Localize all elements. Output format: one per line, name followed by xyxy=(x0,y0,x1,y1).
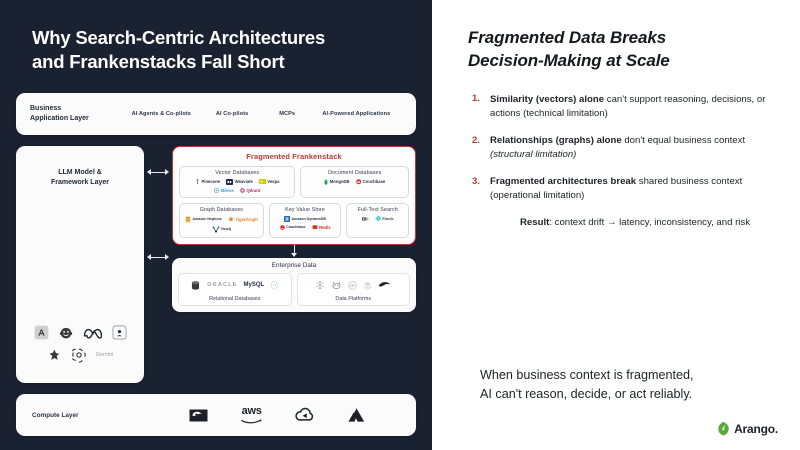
mysql-label: MySQL xyxy=(244,282,265,288)
left-dark-panel: Why Search-Centric Architectures and Fra… xyxy=(0,0,432,450)
group-logos: ORACLE MySQL xyxy=(190,278,279,293)
group-title: Graph Databases xyxy=(200,207,243,213)
enterprise-data-title: Enterprise Data xyxy=(178,262,410,269)
right-panel-title: Fragmented Data Breaks Decision-Making a… xyxy=(454,26,778,73)
qdrant-logo: Qdrant xyxy=(240,188,260,193)
teradata-logo xyxy=(378,281,391,289)
right-title-line1: Fragmented Data Breaks xyxy=(468,28,666,47)
postgresql-logo xyxy=(270,281,279,290)
frankenstack-row-2: Graph Databases Amazon Neptune TigerGrap… xyxy=(179,203,409,238)
business-application-layer-label: Business Application Layer xyxy=(30,104,122,123)
tigergraph-logo: TigerGraph xyxy=(228,216,258,222)
page-title-line1: Why Search-Centric Architectures xyxy=(32,27,325,48)
arango-brand-text: Arango. xyxy=(734,422,778,436)
list-item: 1. Similarity (vectors) alone can't supp… xyxy=(472,93,778,120)
couchbase-kv-logo: Couchbase xyxy=(280,225,306,230)
point-text: Similarity (vectors) alone can't support… xyxy=(490,93,778,120)
sqlserver-logo xyxy=(190,280,201,291)
aws-label: aws xyxy=(242,406,262,417)
bal-label-line2: Application Layer xyxy=(30,114,122,123)
logo-label: Redis xyxy=(319,225,330,230)
mysql-logo: MySQL xyxy=(244,282,265,288)
slide: Why Search-Centric Architectures and Fra… xyxy=(0,0,800,450)
arrow-shaft xyxy=(294,245,295,253)
neo4j-logo: Neo4j xyxy=(212,226,231,233)
openai-icon xyxy=(71,347,87,363)
frankenstack-row-1: Vector Databases Pinecone Weaviate xyxy=(179,166,409,198)
group-graph-databases: Graph Databases Amazon Neptune TigerGrap… xyxy=(179,203,264,238)
gemini-label: Gemini xyxy=(96,352,113,358)
point-bold-lead: Fragmented architectures break xyxy=(490,176,636,187)
logo-label: Weaviate xyxy=(235,179,253,184)
arango-mark-icon xyxy=(717,421,730,436)
page-title-line2: and Frankenstacks Fall Short xyxy=(32,50,416,74)
list-item: 3. Fragmented architectures break shared… xyxy=(472,175,778,202)
solr-logo: So xyxy=(362,216,370,222)
group-data-platforms: Data Platforms xyxy=(297,273,411,306)
arrow-frankenstack-to-enterprise xyxy=(172,245,416,258)
point-text: Fragmented architectures break shared bu… xyxy=(490,175,778,202)
point-number: 2. xyxy=(472,134,483,161)
snowflake-logo xyxy=(315,280,325,290)
clickhouse-logo xyxy=(348,281,357,290)
architecture-diagram: Business Application Layer AI Agents & C… xyxy=(16,93,416,436)
business-application-items: AI Agents & Co-pilots AI Co-pilots MCPs … xyxy=(122,111,402,117)
group-logos: Amazon Neptune TigerGraph Neo4j xyxy=(184,216,259,233)
milvus-logo: Milvus xyxy=(214,188,234,193)
point-number: 1. xyxy=(472,93,483,120)
bal-label-line1: Business xyxy=(30,104,122,113)
couchbase-logo: Couchbase xyxy=(356,179,386,185)
frankenstack-title: Fragmented Frankenstack xyxy=(179,152,409,161)
bal-item-mcps: MCPs xyxy=(264,111,311,117)
result-text: : context drift → latency, inconsistency… xyxy=(549,217,750,228)
llm-logo-row: Gemini xyxy=(24,325,136,373)
logo-label: Neo4j xyxy=(221,227,231,231)
llm-framework-layer-label: LLM Model & Framework Layer xyxy=(24,168,136,188)
gemini-icon: Gemini xyxy=(96,352,113,358)
llm-label-line1: LLM Model & xyxy=(24,168,136,178)
right-content-panel: Fragmented Data Breaks Decision-Making a… xyxy=(432,0,800,450)
closing-statement: When business context is fragmented, AI … xyxy=(454,366,778,404)
compute-layer: Compute Layer aws xyxy=(16,394,416,436)
weaviate-logo: Weaviate xyxy=(226,179,253,185)
bal-item-ai-agents: AI Agents & Co-pilots xyxy=(122,111,201,117)
group-title: Vector Databases xyxy=(215,170,259,176)
point-bold-lead: Similarity (vectors) alone xyxy=(490,94,604,105)
svg-text:So: So xyxy=(362,218,366,221)
group-title: Data Platforms xyxy=(335,296,371,302)
mongodb-logo: MongoDB xyxy=(324,179,349,185)
logo-label: Qdrant xyxy=(246,188,260,193)
arrow-inner xyxy=(291,245,297,257)
llm-label-line2: Framework Layer xyxy=(24,178,136,188)
logo-label: Couchbase xyxy=(286,225,305,229)
compute-layer-label: Compute Layer xyxy=(32,412,172,419)
azure-icon xyxy=(347,407,366,423)
numbered-points-list: 1. Similarity (vectors) alone can't supp… xyxy=(454,93,778,228)
connector-arrows xyxy=(144,146,172,383)
arrow-head-right-icon xyxy=(165,169,169,175)
right-title-line2: Decision-Making at Scale xyxy=(468,49,778,72)
mistral-icon xyxy=(112,325,127,340)
arrow-shaft xyxy=(151,172,165,173)
databricks-logo xyxy=(363,281,372,290)
business-application-layer: Business Application Layer AI Agents & C… xyxy=(16,93,416,135)
arrow-head-down-icon xyxy=(291,253,297,257)
group-logos: Pinecone Weaviate Vespa xyxy=(184,179,290,193)
fragmented-frankenstack-box: Fragmented Frankenstack Vector Databases… xyxy=(172,146,416,245)
enterprise-groups: ORACLE MySQL Relational Databas xyxy=(178,273,410,306)
diagram-right-column: Fragmented Frankenstack Vector Databases… xyxy=(172,146,416,383)
point-bold-lead: Relationships (graphs) alone xyxy=(490,135,622,146)
closing-line1: When business context is fragmented, xyxy=(480,368,694,382)
logo-label: Elastic xyxy=(382,217,394,221)
bal-item-ai-copilots: AI Co-pilots xyxy=(201,111,264,117)
logo-label: Amazon Neptune xyxy=(192,217,221,221)
huggingface-icon xyxy=(58,325,74,340)
elastic-logo: Elastic xyxy=(376,216,394,221)
neptune-logo: Amazon Neptune xyxy=(185,216,222,223)
group-document-databases: Document Databases MongoDB Couchbase xyxy=(300,166,409,198)
point-rest: don't equal business context xyxy=(622,135,745,146)
result-line: Result: context drift → latency, inconsi… xyxy=(472,217,778,228)
enterprise-data-box: Enterprise Data ORACLE xyxy=(172,258,416,312)
compute-logo-row: aws xyxy=(172,406,400,424)
redis-logo: Redis xyxy=(312,225,331,230)
hadoop-logo xyxy=(331,280,342,290)
logo-label: Vespa xyxy=(267,179,279,184)
arrow-llm-to-frankenstack xyxy=(147,168,169,177)
group-title: Document Databases xyxy=(328,170,381,176)
llm-framework-layer: LLM Model & Framework Layer xyxy=(16,146,144,383)
anthropic-icon xyxy=(34,325,49,340)
closing-line2: AI can't reason, decide, or act reliably… xyxy=(480,385,778,404)
group-title: Key Value Store xyxy=(285,207,325,213)
nvidia-icon xyxy=(188,408,209,423)
arrow-shaft xyxy=(151,257,165,258)
logo-label: MongoDB xyxy=(330,179,350,184)
list-item: 2. Relationships (graphs) alone don't eq… xyxy=(472,134,778,161)
arango-brand-logo: Arango. xyxy=(717,421,778,436)
logo-label: Couchbase xyxy=(363,179,386,184)
group-logos: Amazon DynamoDB Couchbase Redis xyxy=(274,216,337,230)
group-full-text-search: Full-Text Search So Elastic xyxy=(346,203,409,238)
aws-icon: aws xyxy=(241,406,263,424)
logo-label: Amazon DynamoDB xyxy=(292,217,326,221)
diagram-middle-region: LLM Model & Framework Layer xyxy=(16,146,416,383)
group-logos: MongoDB Couchbase xyxy=(324,179,385,185)
page-title: Why Search-Centric Architectures and Fra… xyxy=(16,22,416,75)
meta-icon xyxy=(83,327,103,339)
point-italic-tail: (structural limitation) xyxy=(490,149,576,160)
oracle-label: ORACLE xyxy=(207,282,237,288)
logo-label: Milvus xyxy=(221,188,234,193)
group-key-value-store: Key Value Store Amazon DynamoDB Couchbas… xyxy=(269,203,342,238)
bal-item-ai-powered-apps: AI-Powered Applications xyxy=(311,111,402,117)
group-logos xyxy=(315,278,391,293)
group-title: Relational Databases xyxy=(209,296,260,302)
google-cloud-icon xyxy=(294,407,315,423)
group-title: Full-Text Search xyxy=(358,207,398,213)
group-relational-databases: ORACLE MySQL Relational Databas xyxy=(178,273,292,306)
vespa-logo: Vespa xyxy=(259,179,280,184)
dynamodb-logo: Amazon DynamoDB xyxy=(284,216,326,222)
arrow-llm-to-enterprise xyxy=(147,253,169,262)
arrow-head-right-icon xyxy=(165,254,169,260)
point-text: Relationships (graphs) alone don't equal… xyxy=(490,134,778,161)
logo-label: TigerGraph xyxy=(235,217,258,222)
point-number: 3. xyxy=(472,175,483,202)
oracle-logo: ORACLE xyxy=(207,282,237,288)
group-logos: So Elastic xyxy=(362,216,394,222)
result-label: Result xyxy=(520,217,549,228)
pinecone-logo: Pinecone xyxy=(195,179,220,184)
logo-label: Pinecone xyxy=(202,179,221,184)
langchain-icon xyxy=(47,348,62,363)
group-vector-databases: Vector Databases Pinecone Weaviate xyxy=(179,166,295,198)
